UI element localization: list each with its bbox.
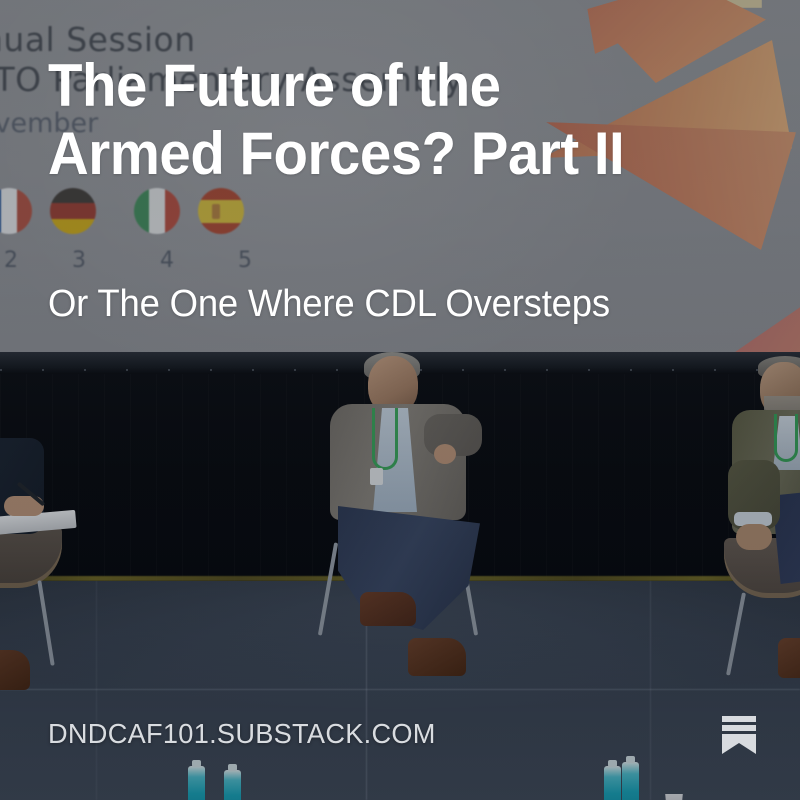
text-overlay: The Future of the Armed Forces? Part II … xyxy=(0,0,800,800)
post-title: The Future of the Armed Forces? Part II xyxy=(48,52,631,188)
social-share-card: nual Session ATO Parliamentary Assembly … xyxy=(0,0,800,800)
substack-bookmark-icon xyxy=(722,716,756,754)
post-subtitle: Or The One Where CDL Oversteps xyxy=(48,281,720,327)
publication-url: DNDCAF101.SUBSTACK.COM xyxy=(48,718,436,750)
